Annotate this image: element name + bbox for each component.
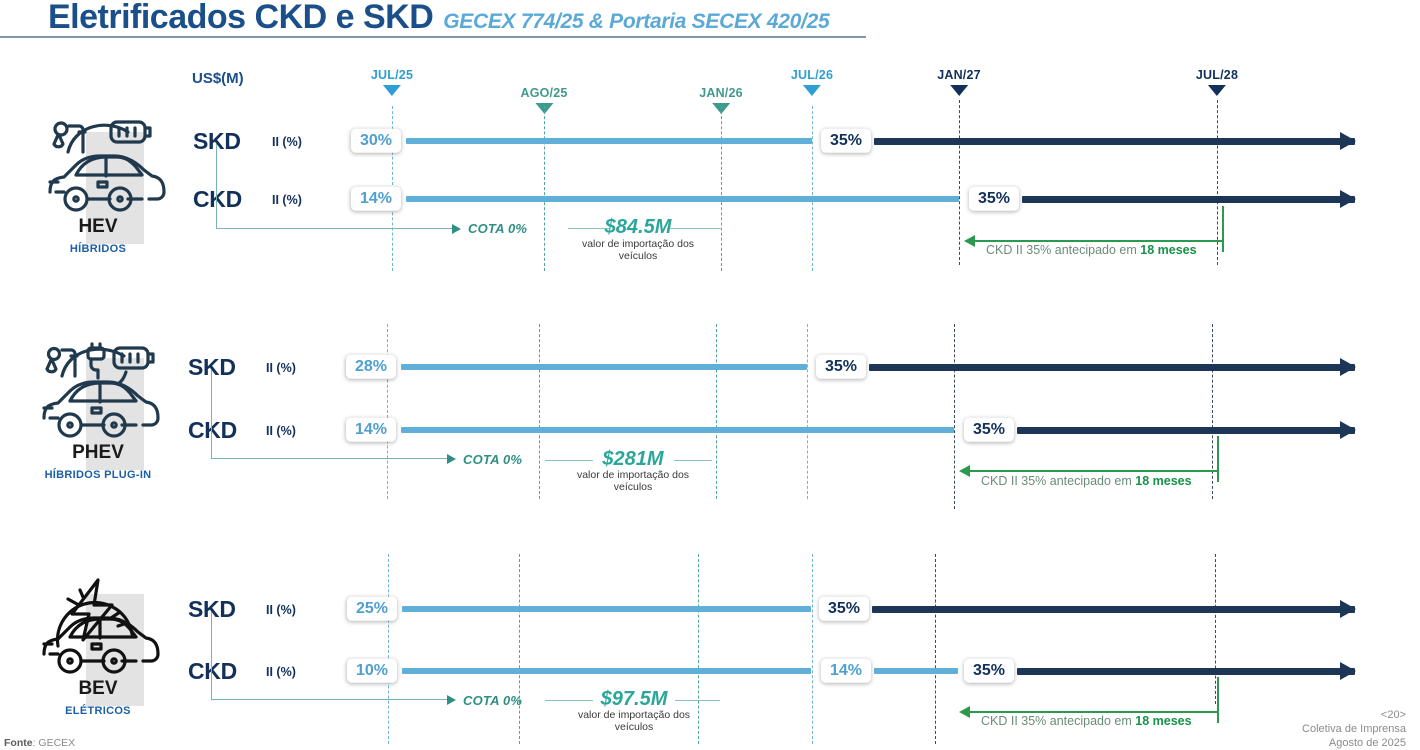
cota-bracket-vertical [211, 370, 212, 459]
anticipation-label: CKD II 35% antecipado em 18 meses [981, 474, 1192, 488]
anticipation-arrow-icon [959, 706, 970, 718]
badge-hev-ckd-final: 35% [969, 187, 1019, 211]
bar-bev-skd-initial [402, 606, 811, 612]
import-rule-right [667, 228, 722, 229]
anticipation-bracket-horizontal [970, 470, 1219, 472]
guideline-jul26 [812, 554, 813, 744]
bar-phev-skd-final [869, 364, 1355, 371]
cota-arrow-icon [452, 224, 461, 234]
badge-bev-ckd-middle: 14% [821, 659, 871, 683]
date-marker-label: JAN/26 [699, 86, 743, 100]
footer-meta: <20> Coletiva de Imprensa Agosto de 2025 [1302, 708, 1406, 750]
anticipation-bracket-horizontal [975, 240, 1224, 242]
import-value: $97.5M [601, 688, 668, 711]
source-value: : GECEX [33, 737, 76, 749]
guideline-jan27 [935, 554, 936, 744]
bar-hev-skd-final [874, 138, 1355, 145]
page-title-text: Eletrificados CKD e SKD [48, 0, 433, 36]
bar-bev-ckd-middle [874, 668, 958, 674]
badge-phev-skd-final: 35% [816, 355, 866, 379]
date-marker-jul28: JUL/28 [1196, 68, 1238, 96]
guideline-jul26 [807, 324, 808, 499]
row-unit-ckd: II (%) [272, 193, 302, 207]
page-title: Eletrificados CKD e SKDGECEX 774/25 & Po… [48, 0, 829, 37]
import-caption: valor de importação dos veículos [574, 709, 694, 734]
arrowhead-icon [1340, 358, 1356, 376]
cota-bracket-horizontal [216, 228, 453, 229]
row-label-ckd: CKD [188, 417, 237, 444]
footer-date: Agosto de 2025 [1302, 736, 1406, 750]
category-card-hev: HEV HÍBRIDOS [18, 110, 178, 255]
cota-label: COTA 0% [463, 693, 522, 708]
badge-hev-skd-final: 35% [821, 129, 871, 153]
cota-arrow-icon [447, 454, 456, 464]
guideline-jul28 [1212, 324, 1213, 499]
import-rule-left [545, 700, 593, 701]
anticipation-prefix: CKD II 35% antecipado em [981, 474, 1135, 488]
date-marker-label: JUL/28 [1196, 68, 1238, 82]
anticipation-label: CKD II 35% antecipado em 18 meses [981, 714, 1192, 728]
guideline-ago25 [519, 554, 520, 744]
badge-bev-skd-final: 35% [819, 597, 869, 621]
badge-hev-skd-initial: 30% [351, 129, 401, 153]
date-marker-jul26: JUL/26 [791, 68, 833, 96]
bar-phev-ckd-initial [401, 427, 954, 433]
row-unit-skd: II (%) [266, 603, 296, 617]
triangle-down-icon [383, 85, 401, 96]
cota-bracket-horizontal [211, 699, 448, 700]
bar-bev-ckd-initial [402, 668, 811, 674]
bar-phev-skd-initial [401, 364, 807, 370]
anticipation-prefix: CKD II 35% antecipado em [986, 243, 1140, 257]
category-name: ELÉTRICOS [18, 705, 178, 717]
page-subtitle: GECEX 774/25 & Portaria SECEX 420/25 [443, 10, 829, 33]
bar-hev-ckd-initial [406, 196, 959, 202]
anticipation-label: CKD II 35% antecipado em 18 meses [986, 243, 1197, 257]
source-note: Fonte: GECEX [4, 737, 75, 749]
row-unit-skd: II (%) [272, 135, 302, 149]
category-code: BEV [18, 678, 178, 700]
arrowhead-icon [1340, 190, 1356, 208]
guideline-jul28 [1215, 554, 1216, 704]
badge-bev-ckd-final: 35% [964, 659, 1014, 683]
category-code: PHEV [18, 442, 178, 464]
arrowhead-icon [1340, 662, 1356, 680]
page-number: <20> [1302, 708, 1406, 722]
import-rule-right [675, 700, 720, 701]
row-unit-ckd: II (%) [266, 665, 296, 679]
bar-bev-ckd-final [1017, 668, 1355, 675]
import-rule-left [545, 460, 593, 461]
bev-car-lightning-icon [18, 572, 178, 682]
hev-car-fuel-battery-icon [18, 110, 178, 220]
anticipation-bold: 18 meses [1135, 474, 1191, 488]
bar-hev-ckd-final [1022, 196, 1355, 203]
anticipation-arrow-icon [959, 465, 970, 477]
cota-label: COTA 0% [463, 452, 522, 467]
anticipation-bracket-vertical [1217, 677, 1219, 723]
cota-label: COTA 0% [468, 221, 527, 236]
import-value: $281M [602, 448, 663, 471]
import-value: $84.5M [605, 216, 672, 239]
phev-car-plug-battery-icon [18, 336, 178, 446]
import-rule-right [674, 460, 712, 461]
axis-unit-label: US$(M) [192, 70, 244, 87]
date-marker-jan27: JAN/27 [937, 68, 981, 96]
title-divider [0, 36, 866, 38]
badge-phev-skd-initial: 28% [346, 355, 396, 379]
badge-hev-ckd-initial: 14% [351, 187, 401, 211]
cota-bracket-horizontal [211, 458, 448, 459]
badge-phev-ckd-final: 35% [964, 418, 1014, 442]
date-marker-label: JUL/25 [371, 68, 413, 82]
anticipation-bracket-horizontal [970, 711, 1219, 713]
category-name: HÍBRIDOS PLUG-IN [18, 469, 178, 481]
triangle-down-icon [950, 85, 968, 96]
anticipation-bracket-vertical [1217, 436, 1219, 482]
import-caption: valor de importação dos veículos [578, 238, 698, 263]
guideline-ago25 [539, 324, 540, 499]
bar-phev-ckd-final [1017, 427, 1355, 434]
anticipation-prefix: CKD II 35% antecipado em [981, 714, 1135, 728]
guideline-jul25 [387, 324, 388, 499]
bar-bev-skd-final [872, 606, 1355, 613]
triangle-down-icon [803, 85, 821, 96]
date-marker-label: JAN/27 [937, 68, 981, 82]
badge-bev-skd-initial: 25% [347, 597, 397, 621]
guideline-jan26 [698, 554, 699, 744]
source-label: Fonte [4, 737, 33, 749]
row-label-ckd: CKD [193, 186, 242, 213]
anticipation-bracket-vertical [1222, 206, 1224, 252]
category-name: HÍBRIDOS [18, 243, 178, 255]
guideline-jul25 [388, 554, 389, 744]
date-marker-jul25: JUL/25 [371, 68, 413, 96]
import-caption: valor de importação dos veículos [573, 469, 693, 494]
triangle-down-icon [1208, 85, 1226, 96]
guideline-jan27 [959, 100, 960, 265]
badge-bev-ckd-initial: 10% [347, 659, 397, 683]
guideline-ago25 [544, 106, 545, 271]
guideline-jan26 [716, 324, 717, 499]
page-header: Eletrificados CKD e SKDGECEX 774/25 & Po… [0, 0, 1420, 44]
row-unit-ckd: II (%) [266, 424, 296, 438]
category-code: HEV [18, 216, 178, 238]
arrowhead-icon [1340, 600, 1356, 618]
anticipation-bold: 18 meses [1135, 714, 1191, 728]
guideline-jan27 [954, 324, 955, 509]
anticipation-arrow-icon [964, 235, 975, 247]
category-card-phev: PHEV HÍBRIDOS PLUG-IN [18, 336, 178, 481]
badge-phev-ckd-initial: 14% [346, 418, 396, 442]
category-card-bev: BEV ELÉTRICOS [18, 572, 178, 717]
footer-event: Coletiva de Imprensa [1302, 722, 1406, 736]
guideline-jan26 [721, 106, 722, 271]
cota-bracket-vertical [211, 612, 212, 700]
row-unit-skd: II (%) [266, 361, 296, 375]
date-marker-label: AGO/25 [520, 86, 567, 100]
anticipation-bold: 18 meses [1140, 243, 1196, 257]
date-marker-label: JUL/26 [791, 68, 833, 82]
bar-hev-skd-initial [406, 138, 812, 144]
arrowhead-icon [1340, 132, 1356, 150]
arrowhead-icon [1340, 421, 1356, 439]
guideline-jul26 [812, 106, 813, 271]
cota-arrow-icon [447, 695, 456, 705]
cota-bracket-vertical [216, 144, 217, 229]
row-label-ckd: CKD [188, 658, 237, 685]
